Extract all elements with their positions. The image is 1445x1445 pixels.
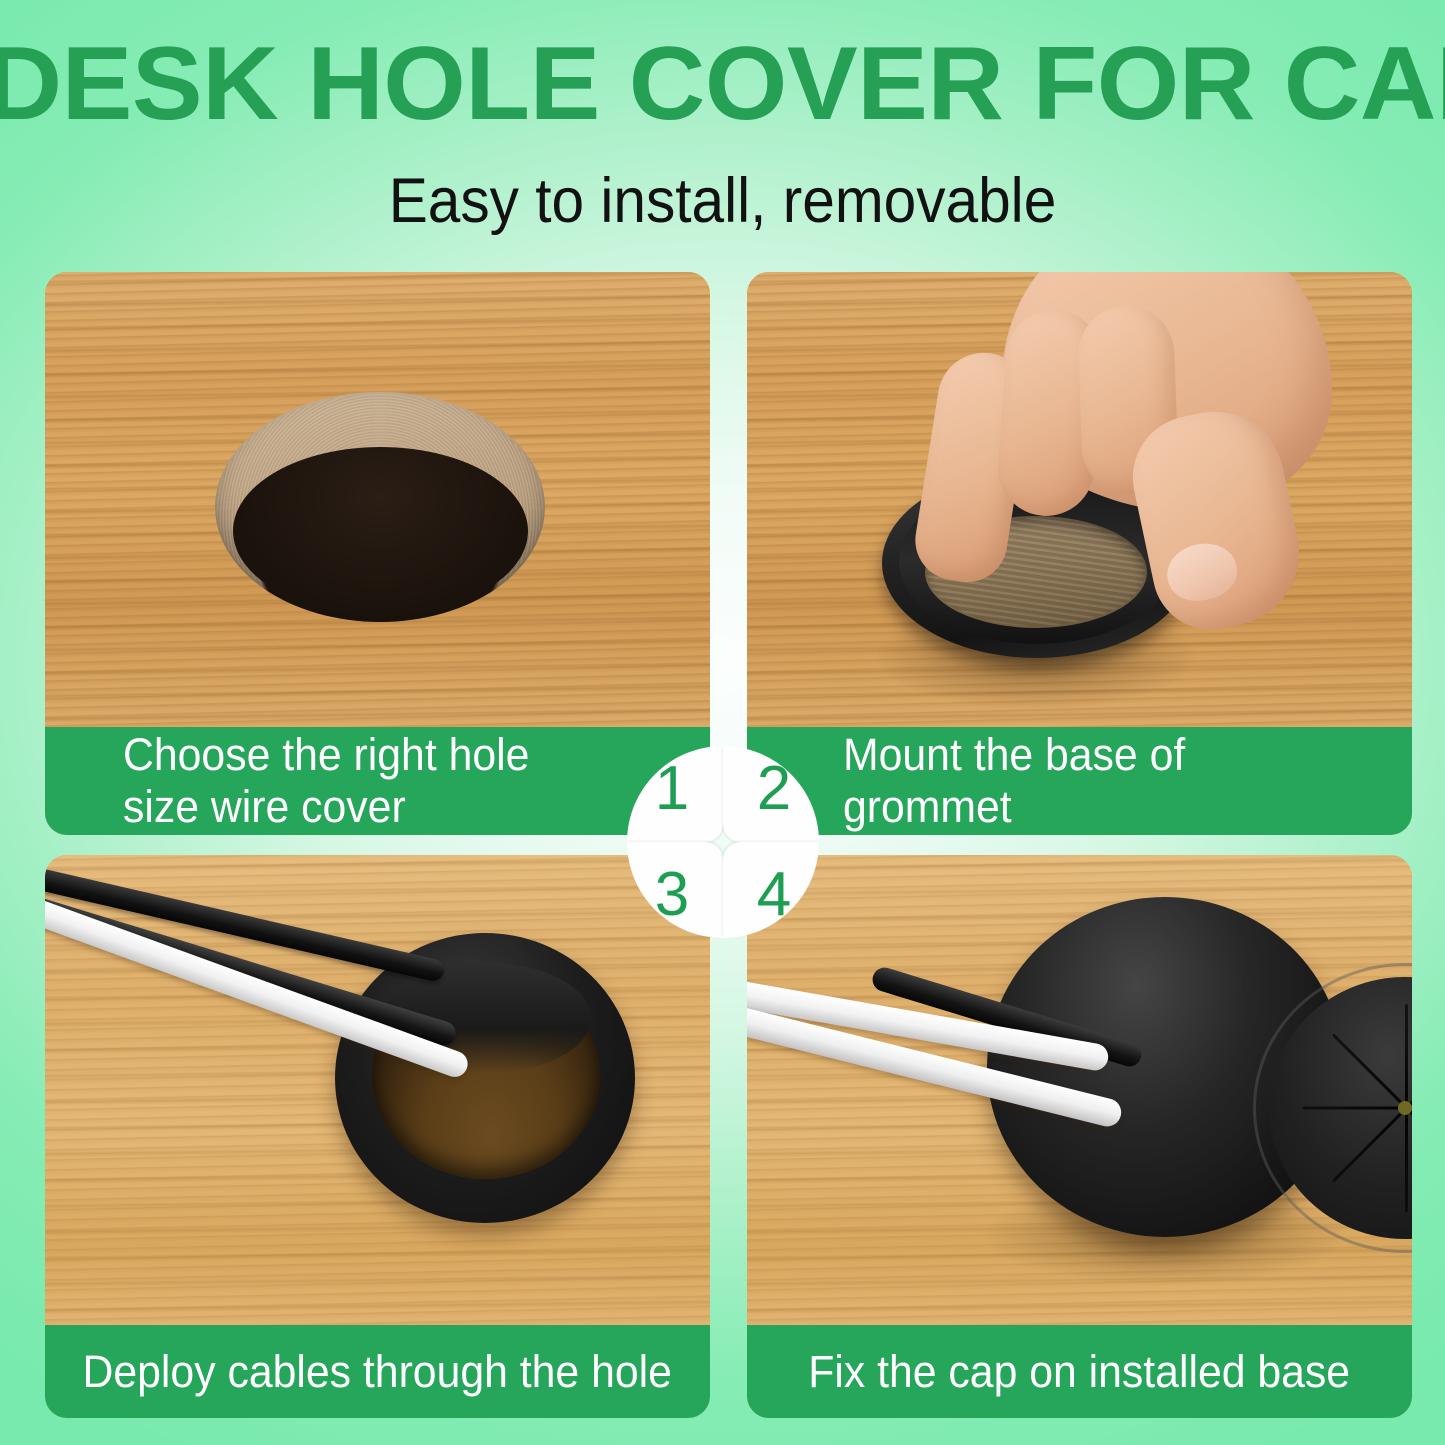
steps-grid: Choose the right hole size wire cover bbox=[45, 272, 1412, 1418]
step-1-caption-line-1: Choose the right hole bbox=[123, 729, 529, 781]
step-4-caption-text: Fix the cap on installed base bbox=[809, 1347, 1351, 1397]
step-2-caption-text: Mount the base of grommet bbox=[843, 729, 1361, 833]
cap-slit bbox=[1405, 1108, 1408, 1212]
step-4-caption: Fix the cap on installed base bbox=[747, 1325, 1412, 1418]
header: DESK HOLE COVER FOR CABLES Easy to insta… bbox=[0, 0, 1445, 262]
step-1-caption: Choose the right hole size wire cover bbox=[45, 727, 710, 835]
hole-opening-dark bbox=[233, 447, 528, 615]
step-1-caption-line-2: size wire cover bbox=[123, 781, 529, 833]
step-1-photo bbox=[45, 272, 710, 727]
step-3-caption-text: Deploy cables through the hole bbox=[83, 1347, 672, 1397]
step-panel-1[interactable]: Choose the right hole size wire cover bbox=[45, 272, 710, 835]
page-subtitle: Easy to install, removable bbox=[51, 168, 1395, 234]
product-infographic: DESK HOLE COVER FOR CABLES Easy to insta… bbox=[0, 0, 1445, 1445]
cap-slit bbox=[1303, 1107, 1407, 1110]
step-panel-2[interactable]: Mount the base of grommet bbox=[747, 272, 1412, 835]
step-3-caption: Deploy cables through the hole bbox=[45, 1325, 710, 1418]
step-2-photo bbox=[747, 272, 1412, 727]
cap-slit-hub bbox=[1398, 1101, 1412, 1115]
step-panel-4[interactable]: Fix the cap on installed base bbox=[747, 855, 1412, 1418]
page-title: DESK HOLE COVER FOR CABLES bbox=[0, 32, 1445, 136]
grommet-cap bbox=[987, 897, 1343, 1237]
step-panel-3[interactable]: Deploy cables through the hole bbox=[45, 855, 710, 1418]
step-3-photo bbox=[45, 855, 710, 1325]
step-4-photo bbox=[747, 855, 1412, 1325]
cap-slit bbox=[1332, 1033, 1408, 1109]
step-2-caption: Mount the base of grommet bbox=[747, 727, 1412, 835]
cap-slit bbox=[1405, 1004, 1408, 1108]
cap-slit bbox=[1332, 1107, 1408, 1183]
